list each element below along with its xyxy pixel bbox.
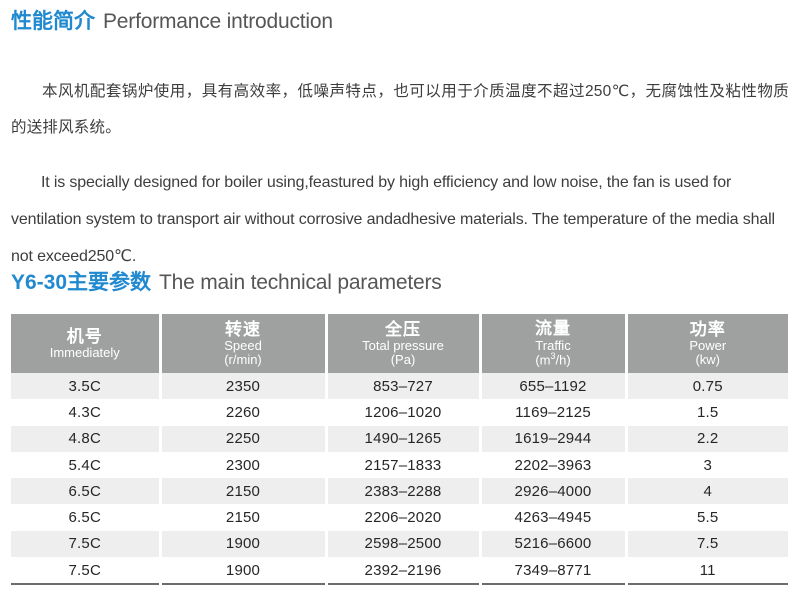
table-cell-speed: 2350 <box>160 373 326 399</box>
table-row: 4.8C22501490–12651619–29442.2 <box>11 426 788 452</box>
table-cell-total-pressure: 1206–1020 <box>326 399 480 425</box>
table-row: 3.5C2350853–727655–11920.75 <box>11 373 788 399</box>
header-en-traffic: Traffic <box>482 339 625 352</box>
table-cell-power: 7.5 <box>626 531 788 557</box>
table-header-cell-traffic: 流量 Traffic (m3/h) <box>480 314 626 373</box>
table-cell-total-pressure: 2206–2020 <box>326 504 480 530</box>
header-en-machine-number: Immediately <box>11 346 159 359</box>
table-cell-total-pressure: 1490–1265 <box>326 426 480 452</box>
table-cell-speed: 2260 <box>160 399 326 425</box>
table-cell-speed: 1900 <box>160 557 326 584</box>
table-row: 7.5C19002392–21967349–877111 <box>11 557 788 584</box>
table-cell-power: 3 <box>626 452 788 478</box>
performance-paragraph-en: It is specially designed for boiler usin… <box>11 164 789 275</box>
parameters-table: 机号 Immediately 转速 Speed (r/min) 全压 Total… <box>11 314 788 585</box>
table-cell-speed: 2150 <box>160 504 326 530</box>
table-cell-machine-number: 7.5C <box>11 531 160 557</box>
document-page: 性能简介Performance introduction 本风机配套锅炉使用，具… <box>0 0 800 592</box>
table-header-cell-power: 功率 Power (kw) <box>626 314 788 373</box>
header-en-power: Power <box>628 339 789 352</box>
performance-paragraph-cn: 本风机配套锅炉使用，具有高效率，低噪声特点，也可以用于介质温度不超过250℃，无… <box>11 74 789 146</box>
header-unit-traffic: (m3/h) <box>482 352 625 367</box>
table-header-cell-total-pressure: 全压 Total pressure (Pa) <box>326 314 480 373</box>
header-cn-total-pressure: 全压 <box>328 321 479 338</box>
table-cell-speed: 2250 <box>160 426 326 452</box>
header-unit-speed: (r/min) <box>162 353 325 366</box>
header-cn-machine-number: 机号 <box>11 328 159 345</box>
table-cell-traffic: 1169–2125 <box>480 399 626 425</box>
table-cell-machine-number: 6.5C <box>11 504 160 530</box>
section-heading-parameters-cn: Y6-30主要参数 <box>11 271 151 294</box>
section-heading-parameters-en: The main technical parameters <box>159 271 442 294</box>
table-cell-total-pressure: 2157–1833 <box>326 452 480 478</box>
section-heading-performance: 性能简介Performance introduction <box>11 11 333 32</box>
table-cell-machine-number: 4.3C <box>11 399 160 425</box>
table-row: 7.5C19002598–25005216–66007.5 <box>11 531 788 557</box>
table-cell-total-pressure: 2383–2288 <box>326 478 480 504</box>
table-cell-machine-number: 4.8C <box>11 426 160 452</box>
section-heading-parameters: Y6-30主要参数The main technical parameters <box>11 272 442 293</box>
table-cell-total-pressure: 2392–2196 <box>326 557 480 584</box>
table-cell-machine-number: 5.4C <box>11 452 160 478</box>
header-cn-speed: 转速 <box>162 321 325 338</box>
table-cell-traffic: 2926–4000 <box>480 478 626 504</box>
table-cell-traffic: 655–1192 <box>480 373 626 399</box>
table-cell-total-pressure: 853–727 <box>326 373 480 399</box>
table-cell-traffic: 7349–8771 <box>480 557 626 584</box>
table-row: 5.4C23002157–18332202–39633 <box>11 452 788 478</box>
table-cell-power: 4 <box>626 478 788 504</box>
table-cell-speed: 1900 <box>160 531 326 557</box>
table-cell-traffic: 4263–4945 <box>480 504 626 530</box>
header-en-speed: Speed <box>162 339 325 352</box>
table-row: 6.5C21502206–20204263–49455.5 <box>11 504 788 530</box>
table-row: 6.5C21502383–22882926–40004 <box>11 478 788 504</box>
table-header-row: 机号 Immediately 转速 Speed (r/min) 全压 Total… <box>11 314 788 373</box>
table-cell-machine-number: 3.5C <box>11 373 160 399</box>
table-header: 机号 Immediately 转速 Speed (r/min) 全压 Total… <box>11 314 788 373</box>
table-cell-total-pressure: 2598–2500 <box>326 531 480 557</box>
section-heading-performance-cn: 性能简介 <box>11 10 95 33</box>
table-cell-traffic: 1619–2944 <box>480 426 626 452</box>
table-header-cell-machine-number: 机号 Immediately <box>11 314 160 373</box>
table-cell-speed: 2300 <box>160 452 326 478</box>
table-cell-power: 2.2 <box>626 426 788 452</box>
table-cell-machine-number: 6.5C <box>11 478 160 504</box>
table-cell-power: 0.75 <box>626 373 788 399</box>
table-cell-traffic: 5216–6600 <box>480 531 626 557</box>
table-header-cell-speed: 转速 Speed (r/min) <box>160 314 326 373</box>
section-heading-performance-en: Performance introduction <box>103 10 333 33</box>
header-cn-power: 功率 <box>628 321 789 338</box>
parameters-table-wrapper: 机号 Immediately 转速 Speed (r/min) 全压 Total… <box>11 314 788 585</box>
header-unit-power: (kw) <box>628 353 789 366</box>
table-body: 3.5C2350853–727655–11920.754.3C22601206–… <box>11 373 788 584</box>
header-cn-traffic: 流量 <box>482 320 625 337</box>
table-cell-traffic: 2202–3963 <box>480 452 626 478</box>
table-cell-machine-number: 7.5C <box>11 557 160 584</box>
table-cell-power: 11 <box>626 557 788 584</box>
table-cell-speed: 2150 <box>160 478 326 504</box>
header-en-total-pressure: Total pressure <box>328 339 479 352</box>
table-cell-power: 5.5 <box>626 504 788 530</box>
header-unit-total-pressure: (Pa) <box>328 353 479 366</box>
table-row: 4.3C22601206–10201169–21251.5 <box>11 399 788 425</box>
table-cell-power: 1.5 <box>626 399 788 425</box>
